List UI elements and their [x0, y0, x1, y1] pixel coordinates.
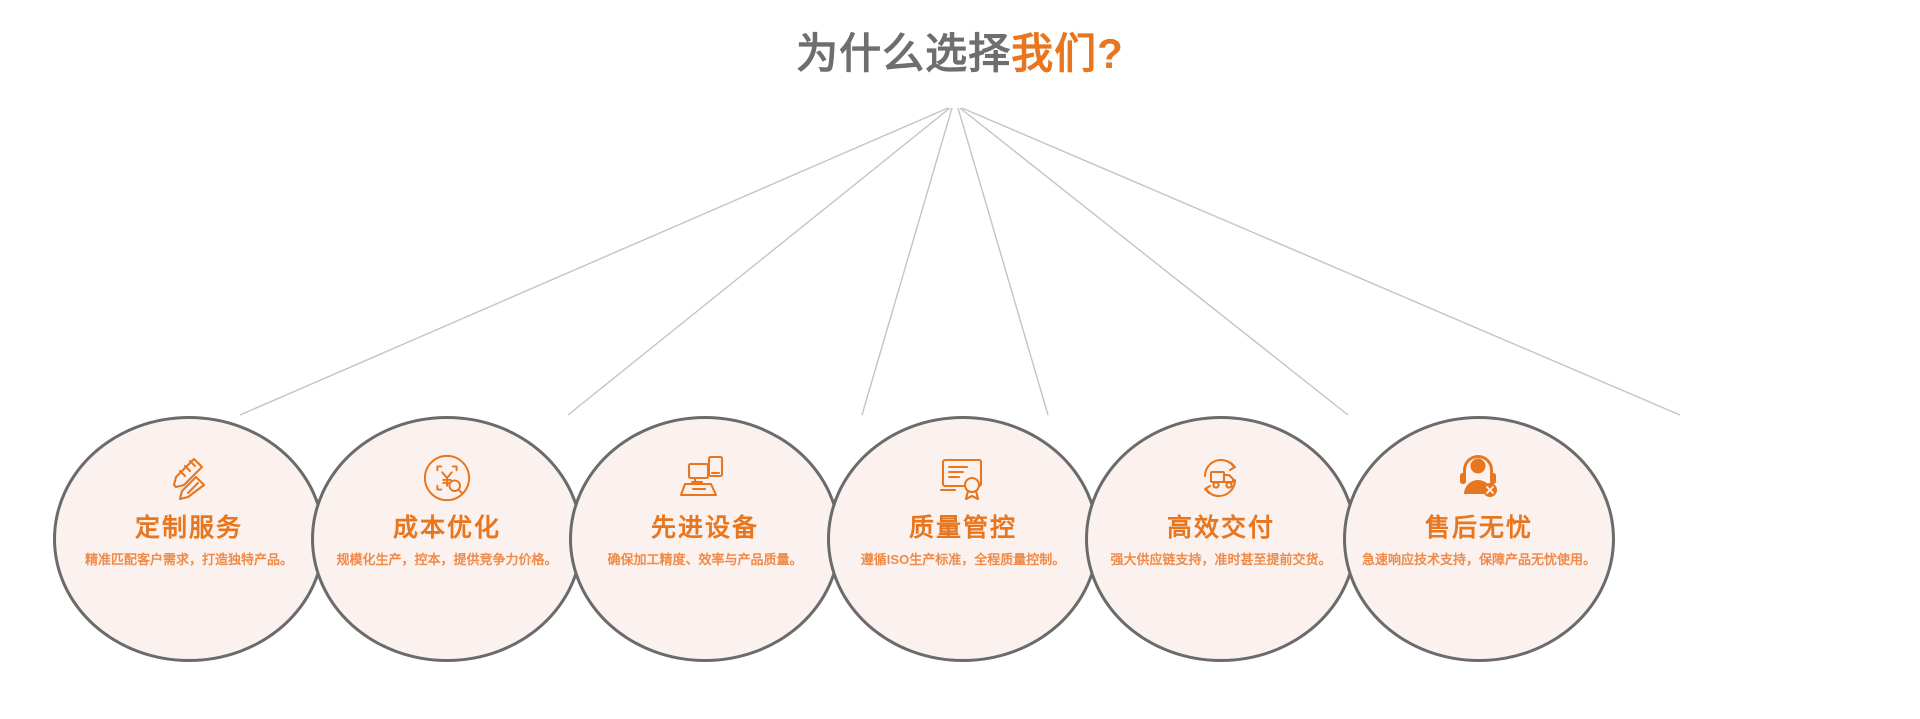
page-title: 为什么选择我们? — [0, 28, 1920, 81]
connector-line-2 — [568, 108, 950, 415]
connector-line-4 — [958, 108, 1048, 415]
feature-circle-3[interactable]: 先进设备 确保加工精度、效率与产品质量。 — [569, 416, 841, 662]
page-title-accent: 我们? — [1011, 30, 1124, 77]
yuan-document-search-icon — [418, 449, 476, 507]
page-title-prefix: 为什么选择 — [796, 30, 1011, 77]
feature-desc: 急速响应技术支持，保障产品无忧使用。 — [1362, 552, 1596, 568]
certificate-seal-icon — [934, 449, 992, 507]
feature-desc: 确保加工精度、效率与产品质量。 — [607, 552, 802, 568]
feature-title: 成本优化 — [393, 515, 501, 543]
connector-line-1 — [240, 108, 948, 415]
feature-desc: 精准匹配客户需求，打造独特产品。 — [85, 552, 293, 568]
why-choose-us-infographic: 为什么选择我们? 定制服务 精准匹配客户需求，打造独特产品 — [0, 0, 1920, 719]
feature-title: 定制服务 — [135, 515, 243, 543]
delivery-truck-cycle-icon — [1192, 449, 1250, 507]
feature-title: 先进设备 — [651, 515, 759, 543]
feature-title: 高效交付 — [1167, 515, 1275, 543]
feature-desc: 遵循ISO生产标准，全程质量控制。 — [861, 552, 1065, 568]
feature-circle-4[interactable]: 质量管控 遵循ISO生产标准，全程质量控制。 — [827, 416, 1099, 662]
headset-support-agent-icon — [1450, 449, 1508, 507]
feature-circle-row: 定制服务 精准匹配客户需求，打造独特产品。 成本优化 规模化生产，控本，提供竞争… — [0, 408, 1920, 668]
feature-title: 售后无忧 — [1425, 515, 1533, 543]
connector-line-6 — [962, 108, 1680, 415]
connector-line-3 — [862, 108, 952, 415]
connector-line-5 — [960, 108, 1348, 415]
computer-devices-icon — [676, 449, 734, 507]
feature-desc: 强大供应链支持，准时甚至提前交货。 — [1110, 552, 1331, 568]
ruler-pencil-icon — [160, 449, 218, 507]
feature-circle-5[interactable]: 高效交付 强大供应链支持，准时甚至提前交货。 — [1085, 416, 1357, 662]
feature-circle-6[interactable]: 售后无忧 急速响应技术支持，保障产品无忧使用。 — [1343, 416, 1615, 662]
feature-circle-2[interactable]: 成本优化 规模化生产，控本，提供竞争力价格。 — [311, 416, 583, 662]
feature-desc: 规模化生产，控本，提供竞争力价格。 — [336, 552, 557, 568]
feature-title: 质量管控 — [909, 515, 1017, 543]
feature-circle-1[interactable]: 定制服务 精准匹配客户需求，打造独特产品。 — [53, 416, 325, 662]
